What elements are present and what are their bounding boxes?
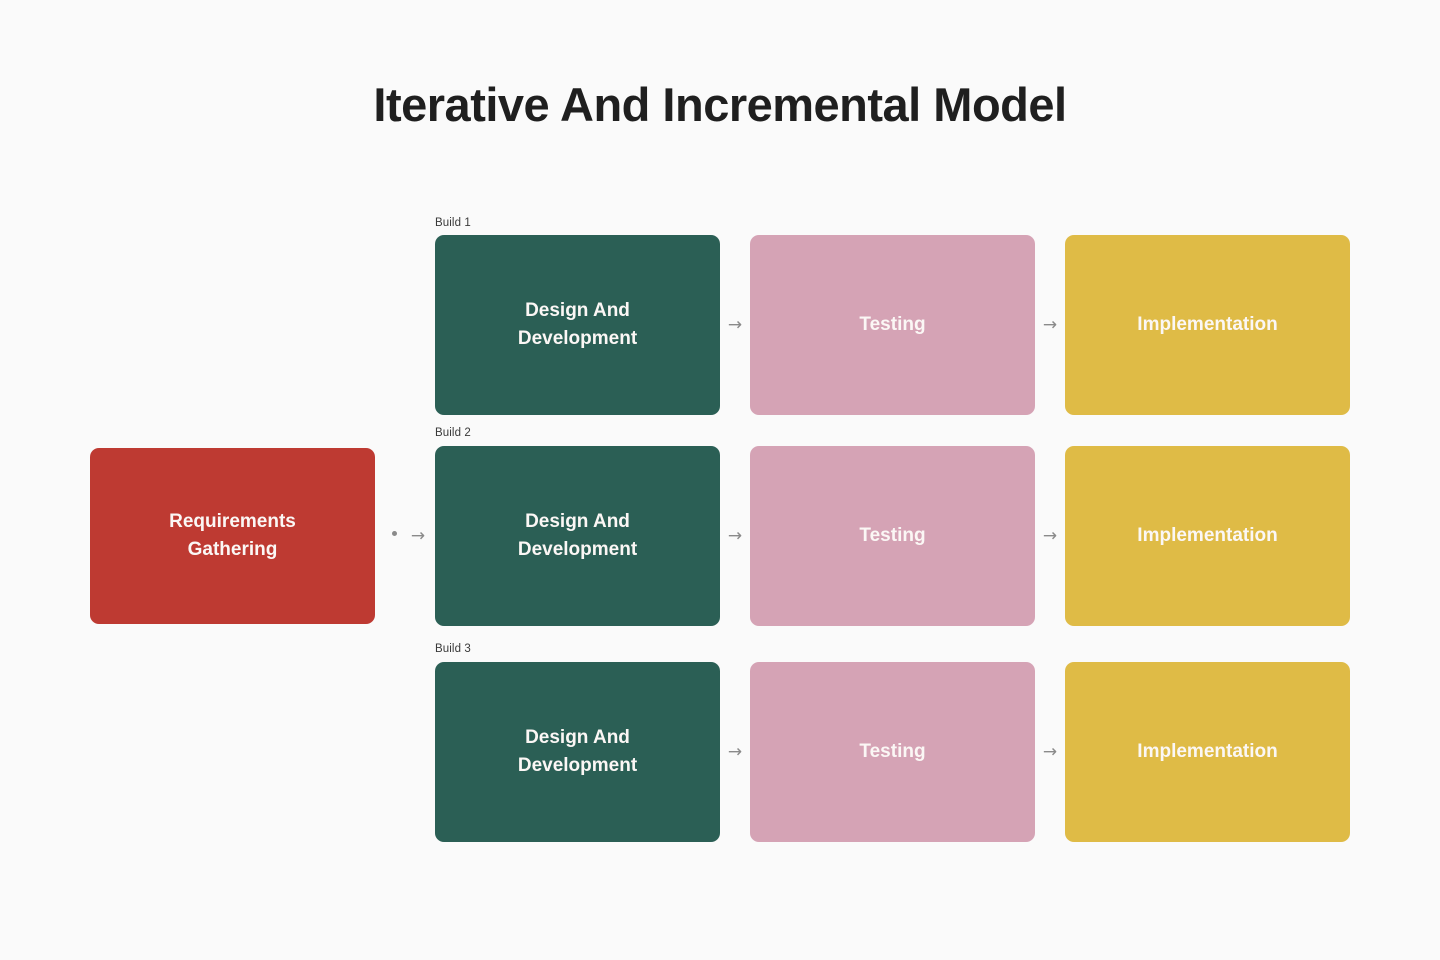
node-build-1-implementation[interactable]: Implementation	[1065, 235, 1350, 415]
arrow-build-3-design-to-testing: →	[722, 739, 748, 765]
build-label-1: Build 1	[435, 218, 471, 230]
node-build-2-design-and-development[interactable]: Design And Development	[435, 446, 720, 626]
build-label-2: Build 2	[435, 428, 471, 440]
node-build-3-design-and-development[interactable]: Design And Development	[435, 662, 720, 842]
arrow-build-1-testing-to-implementation: →	[1037, 312, 1063, 338]
arrow-build-2-testing-to-implementation: →	[1037, 523, 1063, 549]
node-build-1-design-and-development[interactable]: Design And Development	[435, 235, 720, 415]
node-build-2-implementation[interactable]: Implementation	[1065, 446, 1350, 626]
page-title: Iterative And Incremental Model	[0, 78, 1440, 132]
node-build-3-implementation[interactable]: Implementation	[1065, 662, 1350, 842]
arrow-start-to-build-2: →	[405, 523, 431, 549]
node-build-3-testing[interactable]: Testing	[750, 662, 1035, 842]
node-requirements-gathering[interactable]: Requirements Gathering	[90, 448, 375, 624]
arrow-build-3-testing-to-implementation: →	[1037, 739, 1063, 765]
node-build-1-testing[interactable]: Testing	[750, 235, 1035, 415]
build-label-3: Build 3	[435, 644, 471, 656]
node-build-2-testing[interactable]: Testing	[750, 446, 1035, 626]
arrow-build-2-design-to-testing: →	[722, 523, 748, 549]
diagram-canvas: Iterative And Incremental Model Requirem…	[0, 0, 1440, 960]
connector-dot	[392, 531, 397, 536]
arrow-build-1-design-to-testing: →	[722, 312, 748, 338]
